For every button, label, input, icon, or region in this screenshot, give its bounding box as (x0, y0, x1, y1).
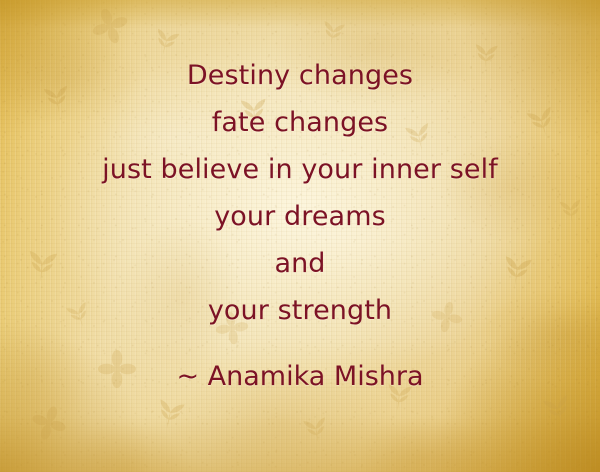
quote-line: fate changes (0, 99, 600, 146)
quote-text-block: Destiny changesfate changesjust believe … (0, 52, 600, 334)
quote-card: Destiny changesfate changesjust believe … (0, 0, 600, 472)
quote-line: just believe in your inner self (0, 146, 600, 193)
quote-line: and (0, 240, 600, 287)
quote-attribution: ~ Anamika Mishra (0, 360, 600, 394)
quote-line: Destiny changes (0, 52, 600, 99)
quote-line: your strength (0, 287, 600, 334)
quote-line: your dreams (0, 193, 600, 240)
